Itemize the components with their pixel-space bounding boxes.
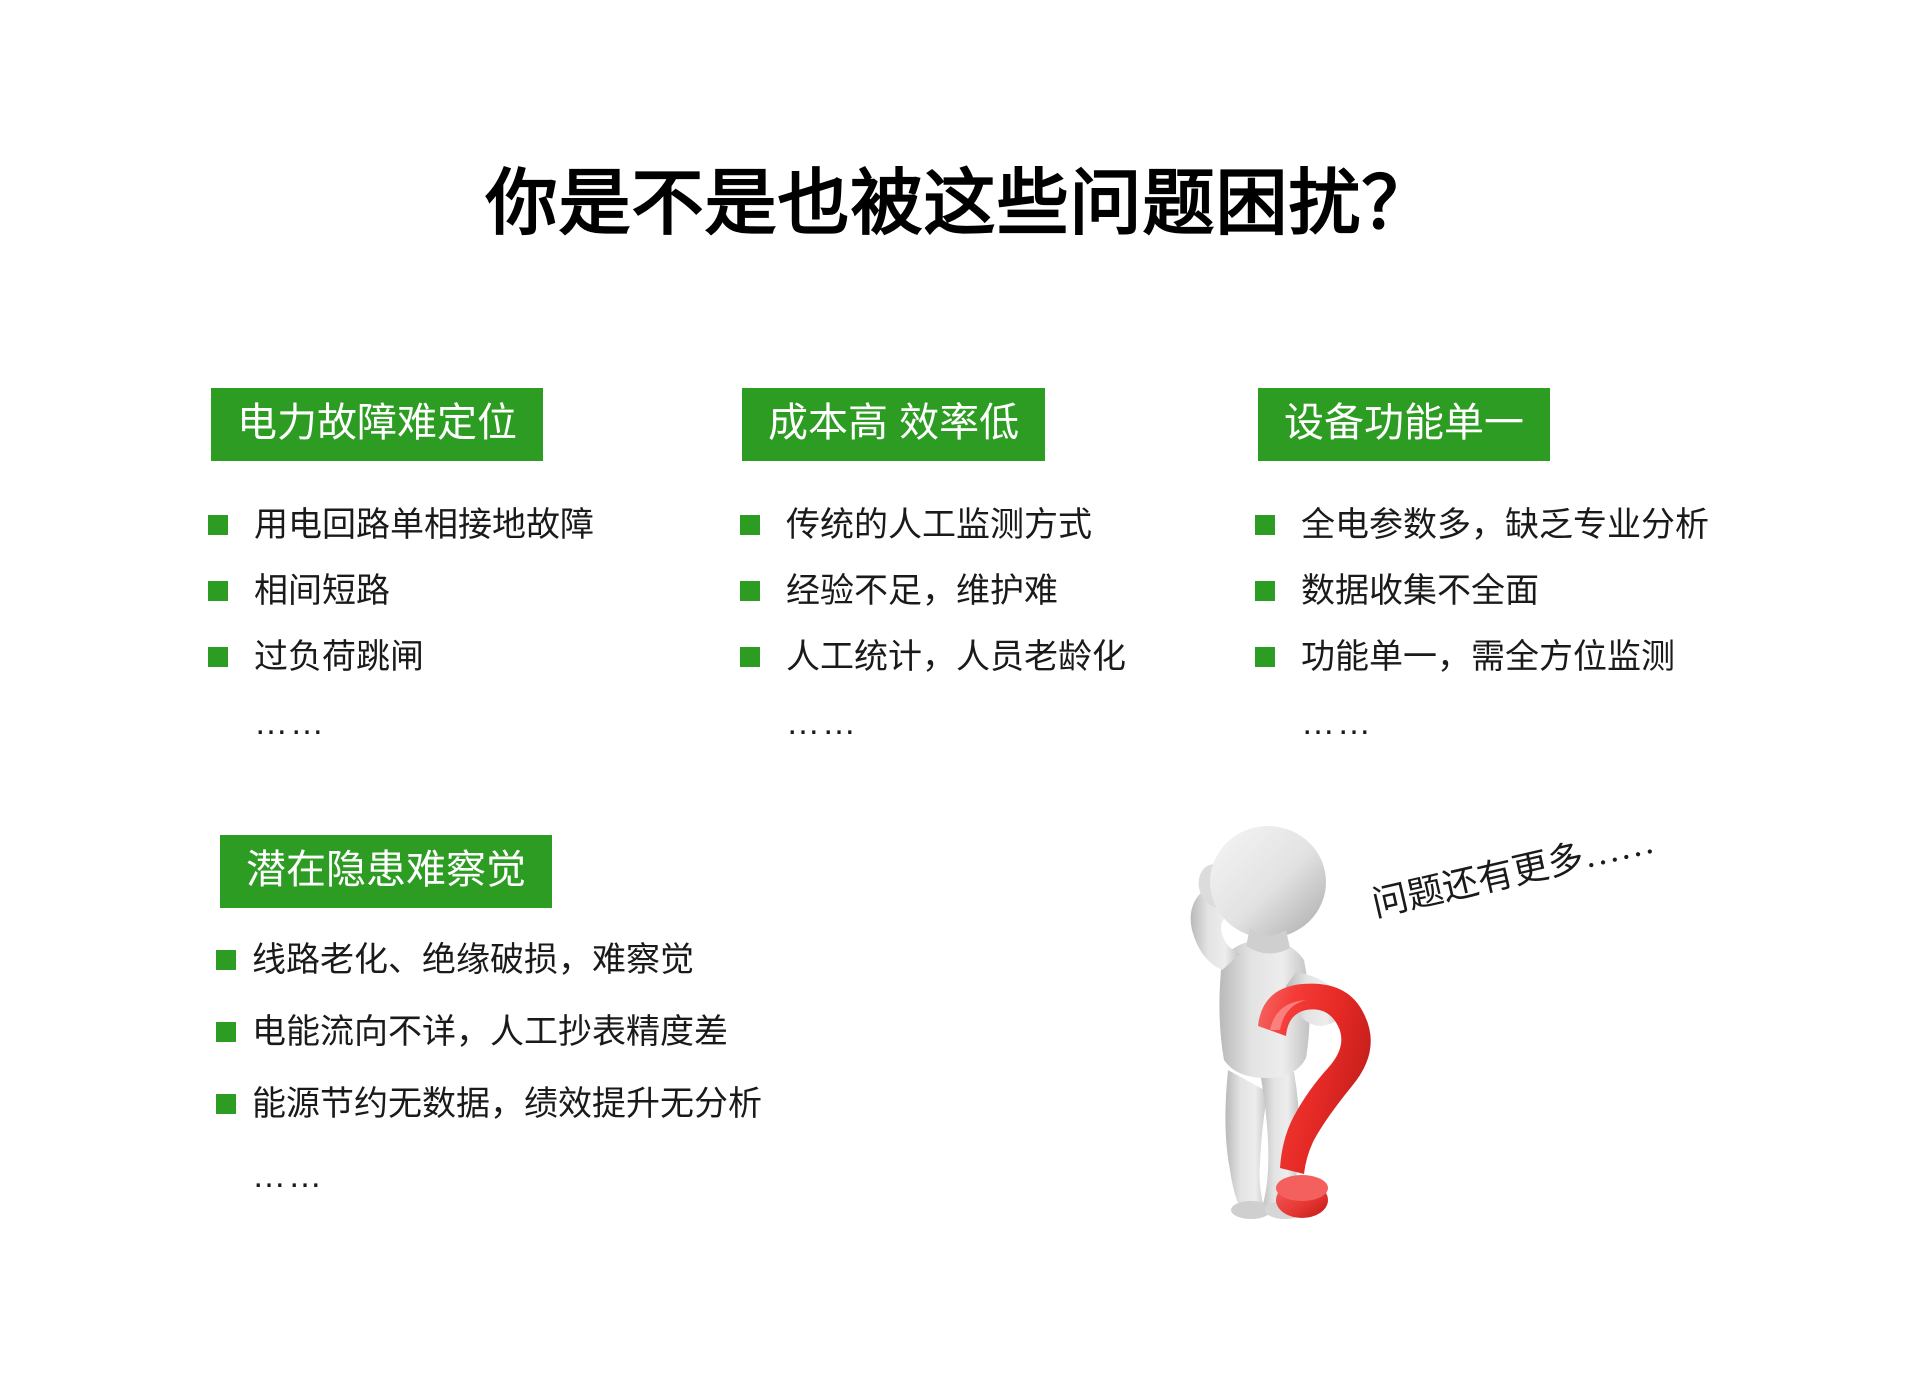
thinking-person-illustration bbox=[1150, 820, 1470, 1220]
list-ellipsis: …… bbox=[1301, 706, 1709, 740]
list-item-label: 相间短路 bbox=[254, 574, 390, 608]
list-item-label: 电能流向不详，人工抄表精度差 bbox=[252, 1015, 728, 1049]
list-item: 用电回路单相接地故障 bbox=[208, 508, 594, 542]
list-item: 过负荷跳闸 bbox=[208, 640, 594, 674]
square-bullet-icon bbox=[208, 581, 228, 601]
list-ellipsis: …… bbox=[786, 706, 1126, 740]
bullet-list-cost-efficiency: 传统的人工监测方式 经验不足，维护难 人工统计，人员老龄化 …… bbox=[740, 508, 1126, 740]
list-ellipsis: …… bbox=[254, 706, 594, 740]
list-item: 数据收集不全面 bbox=[1255, 574, 1709, 608]
list-item: 全电参数多，缺乏专业分析 bbox=[1255, 508, 1709, 542]
square-bullet-icon bbox=[1255, 581, 1275, 601]
bullet-list-device-function: 全电参数多，缺乏专业分析 数据收集不全面 功能单一，需全方位监测 …… bbox=[1255, 508, 1709, 740]
section-heading-cost-efficiency: 成本高 效率低 bbox=[742, 388, 1045, 461]
square-bullet-icon bbox=[208, 647, 228, 667]
square-bullet-icon bbox=[216, 950, 236, 970]
list-item: 经验不足，维护难 bbox=[740, 574, 1126, 608]
square-bullet-icon bbox=[216, 1022, 236, 1042]
list-item-label: 过负荷跳闸 bbox=[254, 640, 424, 674]
list-ellipsis: …… bbox=[252, 1159, 762, 1193]
list-item: 线路老化、绝缘破损，难察觉 bbox=[216, 943, 762, 977]
list-item-label: 用电回路单相接地故障 bbox=[254, 508, 594, 542]
list-item-label: 线路老化、绝缘破损，难察觉 bbox=[252, 943, 694, 977]
bullet-list-hidden-danger: 线路老化、绝缘破损，难察觉 电能流向不详，人工抄表精度差 能源节约无数据，绩效提… bbox=[216, 943, 762, 1193]
list-item-label: 人工统计，人员老龄化 bbox=[786, 640, 1126, 674]
square-bullet-icon bbox=[1255, 515, 1275, 535]
bullet-list-power-fault: 用电回路单相接地故障 相间短路 过负荷跳闸 …… bbox=[208, 508, 594, 740]
list-item-label: 能源节约无数据，绩效提升无分析 bbox=[252, 1087, 762, 1121]
page-title: 你是不是也被这些问题困扰？ bbox=[0, 168, 1920, 240]
square-bullet-icon bbox=[208, 515, 228, 535]
list-item-label: 经验不足，维护难 bbox=[786, 574, 1058, 608]
square-bullet-icon bbox=[1255, 647, 1275, 667]
list-item: 相间短路 bbox=[208, 574, 594, 608]
square-bullet-icon bbox=[740, 581, 760, 601]
list-item: 能源节约无数据，绩效提升无分析 bbox=[216, 1087, 762, 1121]
square-bullet-icon bbox=[740, 515, 760, 535]
section-heading-hidden-danger: 潜在隐患难察觉 bbox=[220, 835, 552, 908]
list-item-label: 传统的人工监测方式 bbox=[786, 508, 1092, 542]
section-heading-device-function: 设备功能单一 bbox=[1258, 388, 1550, 461]
list-item: 功能单一，需全方位监测 bbox=[1255, 640, 1709, 674]
list-item: 人工统计，人员老龄化 bbox=[740, 640, 1126, 674]
list-item-label: 数据收集不全面 bbox=[1301, 574, 1539, 608]
figure-left-leg bbox=[1225, 1070, 1268, 1208]
section-heading-power-fault: 电力故障难定位 bbox=[211, 388, 543, 461]
list-item-label: 全电参数多，缺乏专业分析 bbox=[1301, 508, 1709, 542]
square-bullet-icon bbox=[216, 1094, 236, 1114]
list-item: 电能流向不详，人工抄表精度差 bbox=[216, 1015, 762, 1049]
figure-head bbox=[1210, 826, 1326, 938]
list-item-label: 功能单一，需全方位监测 bbox=[1301, 640, 1675, 674]
square-bullet-icon bbox=[740, 647, 760, 667]
list-item: 传统的人工监测方式 bbox=[740, 508, 1126, 542]
question-mark-dot-top bbox=[1276, 1175, 1328, 1201]
